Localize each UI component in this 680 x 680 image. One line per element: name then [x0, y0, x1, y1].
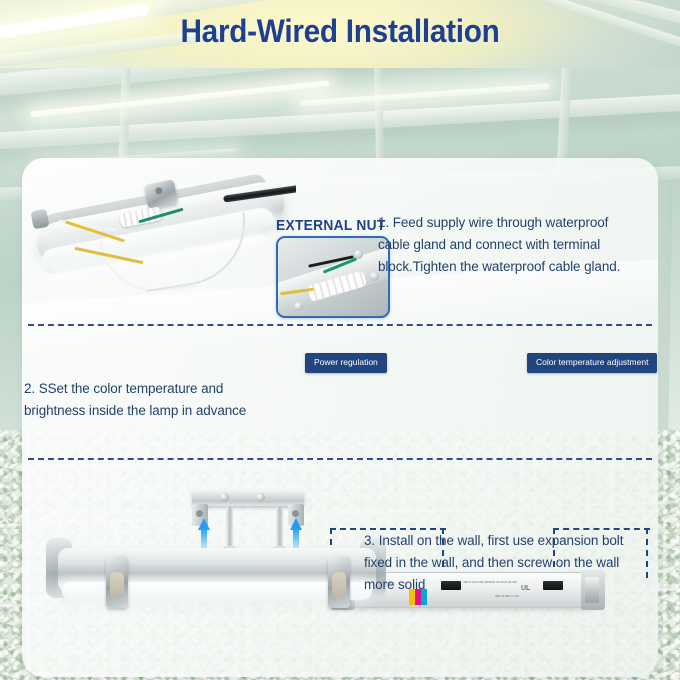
expansion-bolt: [226, 506, 233, 548]
expansion-bolt: [276, 506, 283, 548]
external-nut-photo: [276, 236, 390, 318]
section-divider: [28, 324, 652, 326]
section-divider: [28, 458, 652, 460]
driver-print: IP20 Ta 50C tc 75C: [495, 595, 555, 599]
header-banner: Hard-Wired Installation: [0, 0, 680, 68]
step-2-text: 2. SSet the color temperature and bright…: [24, 378, 274, 422]
external-nut-screw: [354, 250, 363, 259]
power-regulation-badge: Power regulation: [305, 353, 387, 373]
install-direction-arrow-icon: [198, 518, 210, 548]
lamp-end-cap: [30, 209, 49, 230]
step-3-text: 3. Install on the wall, first use expans…: [364, 530, 644, 596]
color-temperature-adjustment-badge: Color temperature adjustment: [527, 353, 657, 373]
mounting-clip: [106, 556, 128, 608]
step-1-text: 1. Feed supply wire through waterproof c…: [378, 212, 638, 278]
wall-mount-plate: [192, 490, 304, 506]
step-3-product-photo: [40, 478, 400, 668]
installation-infographic: Hard-Wired Installation: [0, 0, 680, 680]
install-direction-arrow-icon: [290, 518, 302, 548]
color-temperature-leader-drop: [646, 528, 648, 578]
external-nut-screw: [294, 302, 303, 311]
step-1-product-photo: [28, 166, 296, 314]
external-nut-label: EXTERNAL NUT: [276, 218, 386, 234]
page-title: Hard-Wired Installation: [24, 13, 656, 50]
mounting-clip: [328, 556, 350, 608]
